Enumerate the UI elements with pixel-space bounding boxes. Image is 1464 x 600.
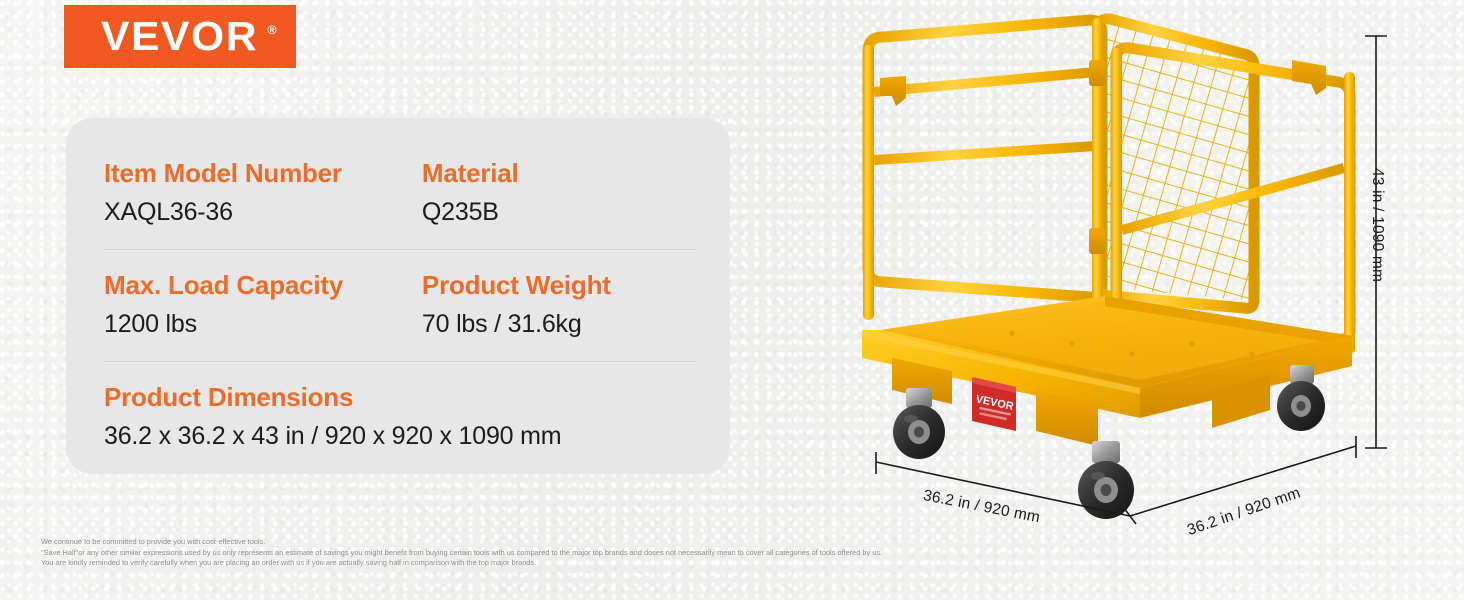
spec-product-weight: Product Weight 70 lbs / 31.6kg (422, 270, 696, 339)
specification-rows: Item Model Number XAQL36-36 Material Q23… (104, 158, 696, 451)
spec-value: 70 lbs / 31.6kg (422, 309, 696, 339)
product-image: VEVOR (840, 0, 1464, 600)
spec-row-2: Max. Load Capacity 1200 lbs Product Weig… (104, 270, 696, 339)
specification-card: Item Model Number XAQL36-36 Material Q23… (66, 118, 730, 474)
spec-value: Q235B (422, 197, 696, 227)
spec-label: Material (422, 158, 696, 188)
spec-row-1: Item Model Number XAQL36-36 Material Q23… (104, 158, 696, 227)
spec-label: Product Weight (422, 270, 696, 300)
gate-hinge-lower (1089, 228, 1105, 254)
right-rear-post (1344, 72, 1355, 354)
spec-item-model-number: Item Model Number XAQL36-36 (104, 158, 422, 227)
latch-tab-left (880, 76, 906, 106)
dimension-label-height: 43 in / 1090 mm (1368, 168, 1386, 282)
spec-row-3: Product Dimensions 36.2 x 36.2 x 43 in /… (104, 382, 696, 451)
left-front-post (863, 45, 874, 320)
vevor-logo-text: VEVOR (101, 13, 258, 60)
latch-tab-right (1292, 60, 1326, 95)
spec-product-dimensions: Product Dimensions 36.2 x 36.2 x 43 in /… (104, 382, 561, 451)
spec-material: Material Q235B (422, 158, 696, 227)
spec-label: Item Model Number (104, 158, 422, 188)
spec-value: 1200 lbs (104, 309, 422, 339)
spec-value: XAQL36-36 (104, 197, 422, 227)
spec-divider (104, 249, 696, 250)
left-rail-panel (868, 20, 1102, 297)
spec-max-load-capacity: Max. Load Capacity 1200 lbs (104, 270, 422, 339)
vevor-logo: VEVOR ® (64, 5, 296, 68)
gate-hinge-upper (1089, 60, 1105, 86)
spec-label: Max. Load Capacity (104, 270, 422, 300)
spec-label: Product Dimensions (104, 382, 561, 412)
spec-value: 36.2 x 36.2 x 43 in / 920 x 920 x 1090 m… (104, 421, 561, 451)
spec-divider (104, 361, 696, 362)
right-front-post (1111, 48, 1122, 333)
